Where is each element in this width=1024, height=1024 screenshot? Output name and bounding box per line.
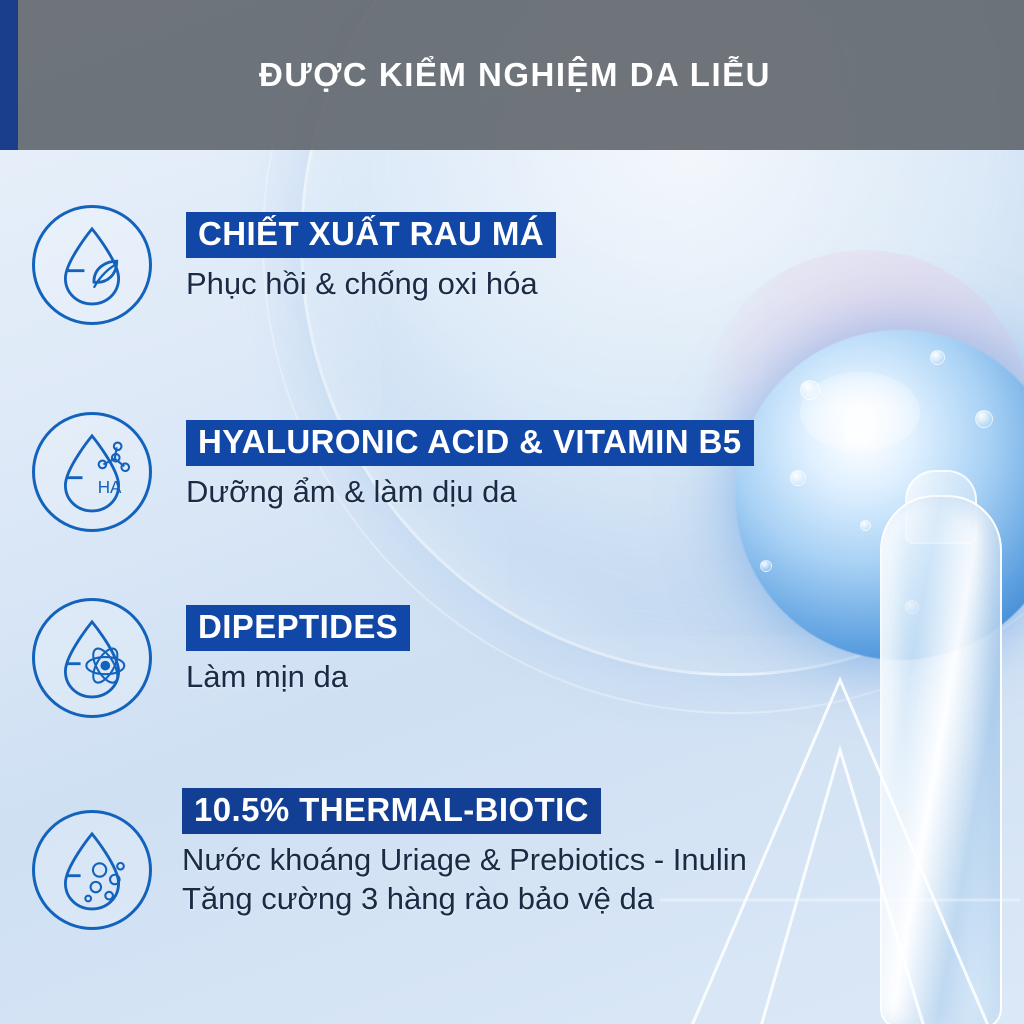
feature-tag-2: HYALURONIC ACID & VITAMIN B5 — [186, 420, 754, 466]
feature-tag-4: 10.5% THERMAL-BIOTIC — [182, 788, 601, 834]
feature-tag-3: DIPEPTIDES — [186, 605, 410, 651]
droplet-ha-molecule-icon: HA — [32, 412, 152, 532]
droplet-atom-icon — [32, 598, 152, 718]
droplet-atom-glyph — [35, 601, 149, 715]
feature-desc-3: Làm mịn da — [186, 657, 410, 697]
feature-desc-4-line-1: Nước khoáng Uriage & Prebiotics - Inulin — [182, 840, 747, 880]
header-title: ĐƯỢC KIỂM NGHIỆM DA LIỄU — [259, 56, 771, 94]
feature-tag-1: CHIẾT XUẤT RAU MÁ — [186, 212, 556, 258]
feature-desc-4-line-2: Tăng cường 3 hàng rào bảo vệ da — [182, 879, 747, 919]
feature-text-2: HYALURONIC ACID & VITAMIN B5 Dưỡng ẩm & … — [186, 420, 754, 511]
header-band: ĐƯỢC KIỂM NGHIỆM DA LIỄU — [0, 0, 1024, 150]
droplet-ha-glyph: HA — [35, 415, 149, 529]
droplet-microbes-icon — [32, 810, 152, 930]
feature-text-4: 10.5% THERMAL-BIOTIC Nước khoáng Uriage … — [182, 788, 747, 919]
product-feature-poster: ĐƯỢC KIỂM NGHIỆM DA LIỄU CHIẾT XUẤT RAU … — [0, 0, 1024, 1024]
feature-text-1: CHIẾT XUẤT RAU MÁ Phục hồi & chống oxi h… — [186, 212, 556, 303]
header-accent-bar — [0, 0, 18, 150]
feature-desc-2: Dưỡng ẩm & làm dịu da — [186, 472, 754, 512]
droplet-microbes-glyph — [35, 813, 149, 927]
droplet-leaf-glyph — [35, 208, 149, 322]
droplet-leaf-icon — [32, 205, 152, 325]
feature-list: CHIẾT XUẤT RAU MÁ Phục hồi & chống oxi h… — [0, 150, 1024, 1024]
ha-label: HA — [98, 478, 122, 497]
feature-text-3: DIPEPTIDES Làm mịn da — [186, 605, 410, 696]
feature-desc-1: Phục hồi & chống oxi hóa — [186, 264, 556, 304]
